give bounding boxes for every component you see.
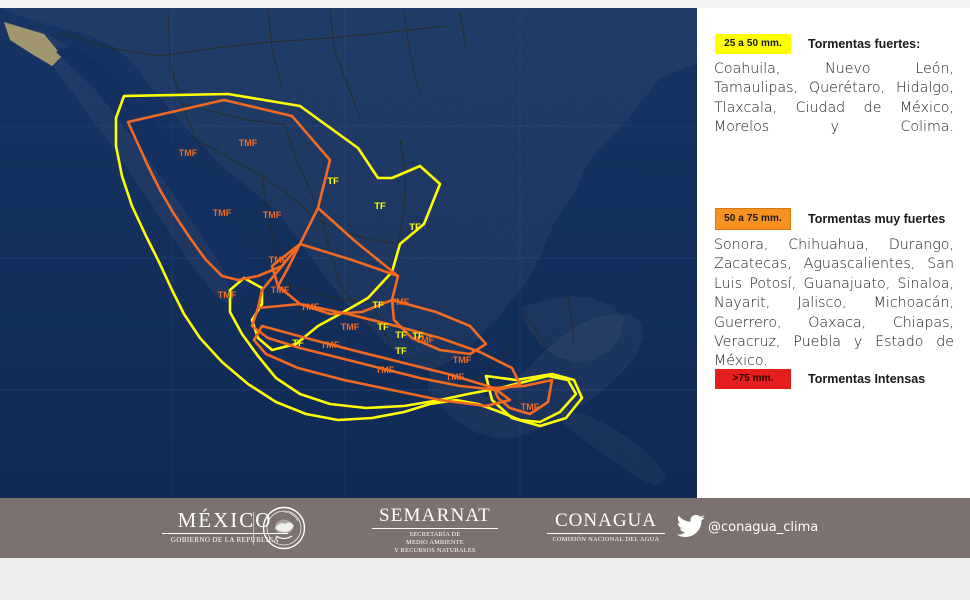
legend-block-tormentas-muy-fuertes: 50 a 75 mm. Tormentas muy fuertes Sonora… (697, 208, 970, 391)
twitter-handle-block[interactable]: @conagua_clima (676, 514, 818, 540)
map-label-tmf: TMF (521, 402, 540, 412)
semarnat-subtitle-1: SECRETARÍA DE (370, 531, 500, 539)
conagua-logo-word: CONAGUA (545, 511, 667, 531)
legend-block-tormentas-intensas: >75 mm. Tormentas Intensas (697, 369, 970, 389)
map-label-tmf: TMF (213, 208, 232, 218)
bottom-strip (0, 558, 970, 600)
map-label-tmf: TMF (179, 148, 198, 158)
legend-row-intensas: >75 mm. Tormentas Intensas (697, 369, 970, 389)
legend-row-muy-fuertes: 50 a 75 mm. Tormentas muy fuertes (697, 208, 970, 230)
twitter-bird-icon (676, 514, 706, 540)
map-label-tmf: TMF (301, 302, 320, 312)
semarnat-logo-word: SEMARNAT (370, 506, 500, 526)
map-label-tmf: TMF (269, 255, 288, 265)
map-svg: TMFTMFTMFTMFTMFTMFTMFTMFTMFTMFTMFTMFTMFT… (0, 8, 697, 498)
screenshot-root: TMFTMFTMFTMFTMFTMFTMFTMFTMFTMFTMFTMFTMFT… (0, 0, 970, 600)
legend-swatch-50-75[interactable]: 50 a 75 mm. (715, 208, 791, 230)
map-label-tmf: TMF (341, 322, 360, 332)
map-label-tf: TF (374, 201, 386, 212)
legend-swatch-mas-75[interactable]: >75 mm. (715, 369, 791, 389)
map-label-tmf: TMF (446, 372, 465, 382)
map-label-tf: TF (395, 346, 407, 357)
conagua-logo[interactable]: CONAGUA COMISIÓN NACIONAL DEL AGUA (545, 511, 667, 543)
legend-block-tormentas-fuertes: 25 a 50 mm. Tormentas fuertes: Coahuila,… (697, 34, 970, 157)
map-label-tf: TF (327, 176, 339, 187)
footer-divider (253, 512, 254, 545)
legend-row-fuertes: 25 a 50 mm. Tormentas fuertes: (697, 34, 970, 54)
legend-states-muy-fuertes: Sonora, Chihuahua, Durango, Zacatecas, A… (714, 236, 954, 391)
semarnat-subtitle-2: MEDIO AMBIENTE (370, 539, 500, 547)
map-label-tmf: TMF (239, 138, 258, 148)
legend-heading-muy-fuertes: Tormentas muy fuertes (808, 212, 945, 226)
map-label-tmf: TMF (271, 285, 290, 295)
semarnat-logo[interactable]: SEMARNAT SECRETARÍA DE MEDIO AMBIENTE Y … (370, 506, 500, 556)
footer-bar: MÉXICO GOBIERNO DE LA REPÚBLICA SEMARNAT… (0, 498, 970, 558)
legend-swatch-25-50[interactable]: 25 a 50 mm. (715, 34, 791, 54)
weather-map[interactable]: TMFTMFTMFTMFTMFTMFTMFTMFTMFTMFTMFTMFTMFT… (0, 8, 697, 498)
legend-states-fuertes: Coahuila, Nuevo León, Tamaulipas, Querét… (714, 60, 954, 157)
semarnat-logo-rule (372, 528, 498, 529)
conagua-logo-subtitle: COMISIÓN NACIONAL DEL AGUA (545, 536, 667, 543)
legend-heading-fuertes: Tormentas fuertes: (808, 37, 920, 51)
map-label-tmf: TMF (263, 210, 282, 220)
map-label-tf: TF (372, 300, 384, 311)
semarnat-subtitle-3: Y RECURSOS NATURALES (370, 547, 500, 555)
map-label-tmf: TMF (218, 290, 237, 300)
conagua-logo-rule (547, 533, 665, 534)
mexican-coat-of-arms-seal (262, 506, 306, 550)
map-label-tmf: TMF (453, 355, 472, 365)
legend-panel: 25 a 50 mm. Tormentas fuertes: Coahuila,… (697, 8, 970, 498)
map-label-tmf: TMF (321, 340, 340, 350)
map-label-tf: TF (377, 322, 389, 333)
twitter-handle-text: @conagua_clima (708, 520, 818, 535)
map-label-tmf: TMF (376, 365, 395, 375)
map-label-tf: TF (412, 331, 424, 342)
legend-heading-intensas: Tormentas Intensas (808, 372, 925, 386)
top-strip (0, 0, 970, 8)
map-label-tf: TF (409, 222, 421, 233)
map-label-tf: TF (292, 338, 304, 349)
map-label-tf: TF (395, 330, 407, 341)
map-label-tmf: TMF (391, 297, 410, 307)
